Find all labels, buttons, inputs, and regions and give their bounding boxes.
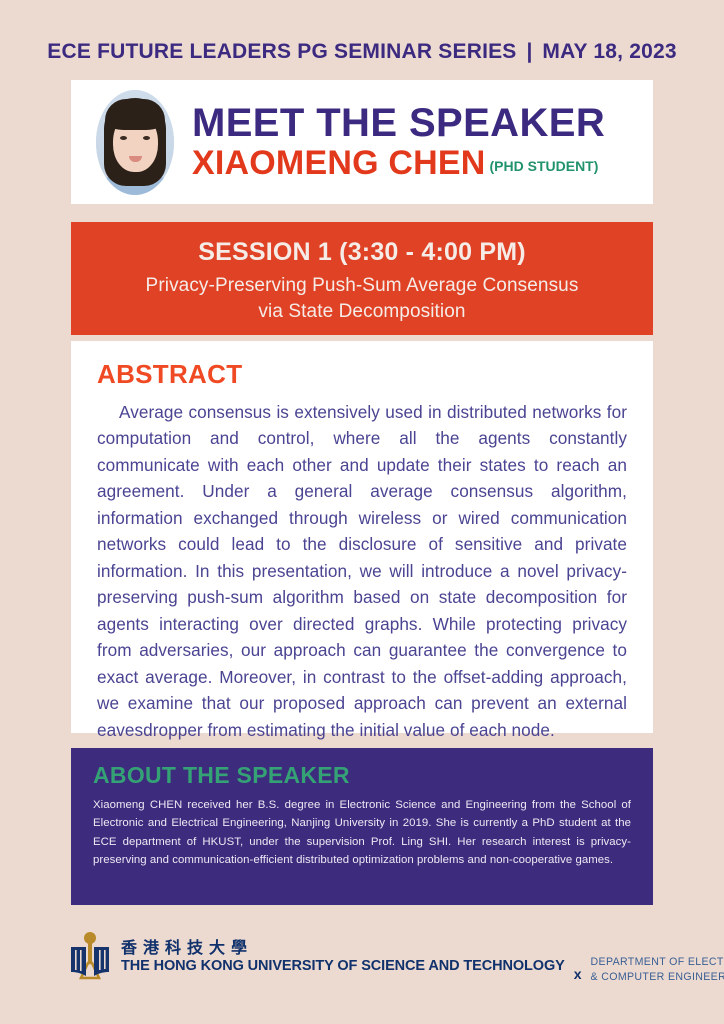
about-speaker-box: ABOUT THE SPEAKER Xiaomeng CHEN received… <box>71 748 653 905</box>
portrait-eye-left <box>120 136 127 140</box>
about-speaker-body: Xiaomeng CHEN received her B.S. degree i… <box>93 796 631 870</box>
department-line-1: DEPARTMENT OF ELECTRONIC <box>591 955 724 970</box>
speaker-name: XIAOMENG CHEN <box>192 144 486 182</box>
session-subtitle: Privacy-Preserving Push-Sum Average Cons… <box>71 270 653 325</box>
abstract-body: Average consensus is extensively used in… <box>97 399 627 743</box>
footer-separator: x <box>574 966 582 986</box>
series-title-bar: ECE FUTURE LEADERS PG SEMINAR SERIES|MAY… <box>0 40 724 64</box>
speaker-name-row: XIAOMENG CHEN(PHD STUDENT) <box>192 146 635 182</box>
seminar-poster: ECE FUTURE LEADERS PG SEMINAR SERIES|MAY… <box>0 0 724 1024</box>
speaker-title-block: MEET THE SPEAKER XIAOMENG CHEN(PHD STUDE… <box>192 102 653 182</box>
abstract-heading: ABSTRACT <box>97 359 627 390</box>
speaker-role: (PHD STUDENT) <box>490 158 599 174</box>
footer-logo-bar: 香港科技大學 THE HONG KONG UNIVERSITY OF SCIEN… <box>68 928 668 986</box>
portrait-fringe <box>105 99 165 130</box>
hkust-name-english: THE HONG KONG UNIVERSITY OF SCIENCE AND … <box>121 958 565 975</box>
abstract-card: ABSTRACT Average consensus is extensivel… <box>71 341 653 733</box>
title-separator: | <box>517 40 543 64</box>
about-speaker-heading: ABOUT THE SPEAKER <box>93 762 631 789</box>
hkust-wordmark: 香港科技大學 THE HONG KONG UNIVERSITY OF SCIEN… <box>121 939 565 975</box>
session-banner: SESSION 1 (3:30 - 4:00 PM) Privacy-Prese… <box>71 222 653 335</box>
portrait-eye-right <box>143 136 150 140</box>
hkust-name-chinese: 香港科技大學 <box>121 939 565 958</box>
department-line-2: & COMPUTER ENGINEERING <box>591 970 724 985</box>
department-name: DEPARTMENT OF ELECTRONIC & COMPUTER ENGI… <box>591 955 724 986</box>
speaker-portrait <box>96 90 174 195</box>
hkust-logo-icon <box>68 931 112 983</box>
speaker-header-card: MEET THE SPEAKER XIAOMENG CHEN(PHD STUDE… <box>71 80 653 204</box>
portrait-mouth <box>129 156 142 162</box>
session-title: SESSION 1 (3:30 - 4:00 PM) <box>71 236 653 270</box>
series-title: ECE FUTURE LEADERS PG SEMINAR SERIES <box>47 40 516 64</box>
meet-the-speaker-heading: MEET THE SPEAKER <box>192 102 635 144</box>
seminar-date: MAY 18, 2023 <box>542 40 676 64</box>
